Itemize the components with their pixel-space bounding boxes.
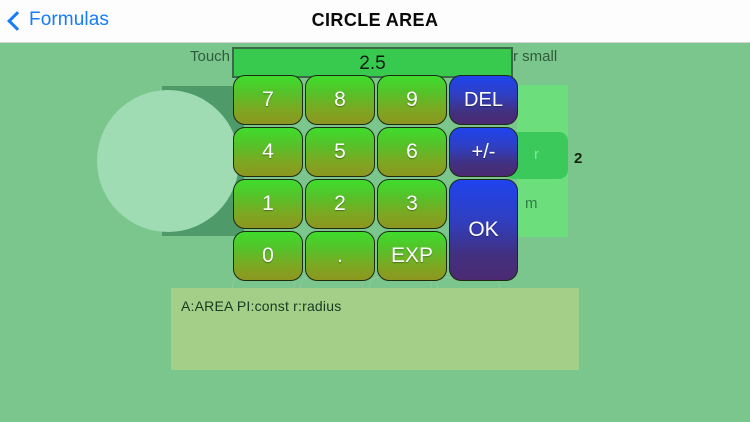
key-ok[interactable]: OK [449,179,518,281]
key-7[interactable]: 7 [233,75,303,125]
unit-label: m [525,195,538,212]
formula-canvas: Touch r small r m 2 2.5 789DEL456+/-123O… [0,43,750,422]
key-sign[interactable]: +/- [449,127,518,177]
key-5[interactable]: 5 [305,127,375,177]
exponent-label: 2 [574,150,582,167]
key-9[interactable]: 9 [377,75,447,125]
key-dot[interactable]: . [305,231,375,281]
hint-text-right: r small [513,47,557,67]
key-2[interactable]: 2 [305,179,375,229]
key-0[interactable]: 0 [233,231,303,281]
value-input-text: 2.5 [234,53,511,75]
circle-shape [97,90,239,232]
hint-text-left: Touch [190,47,230,67]
numeric-keypad: 789DEL456+/-123OK0.EXP [231,75,520,284]
key-1[interactable]: 1 [233,179,303,229]
page-title: CIRCLE AREA [0,9,750,31]
legend-panel: A:AREA PI:const r:radius [171,288,579,370]
app-root: Formulas CIRCLE AREA Touch r small r m 2… [0,0,750,422]
key-del[interactable]: DEL [449,75,518,125]
key-3[interactable]: 3 [377,179,447,229]
key-8[interactable]: 8 [305,75,375,125]
key-exp[interactable]: EXP [377,231,447,281]
navigation-bar: Formulas CIRCLE AREA [0,0,750,43]
legend-text: A:AREA PI:const r:radius [181,297,341,316]
key-4[interactable]: 4 [233,127,303,177]
value-input[interactable]: 2.5 [232,47,513,78]
key-6[interactable]: 6 [377,127,447,177]
